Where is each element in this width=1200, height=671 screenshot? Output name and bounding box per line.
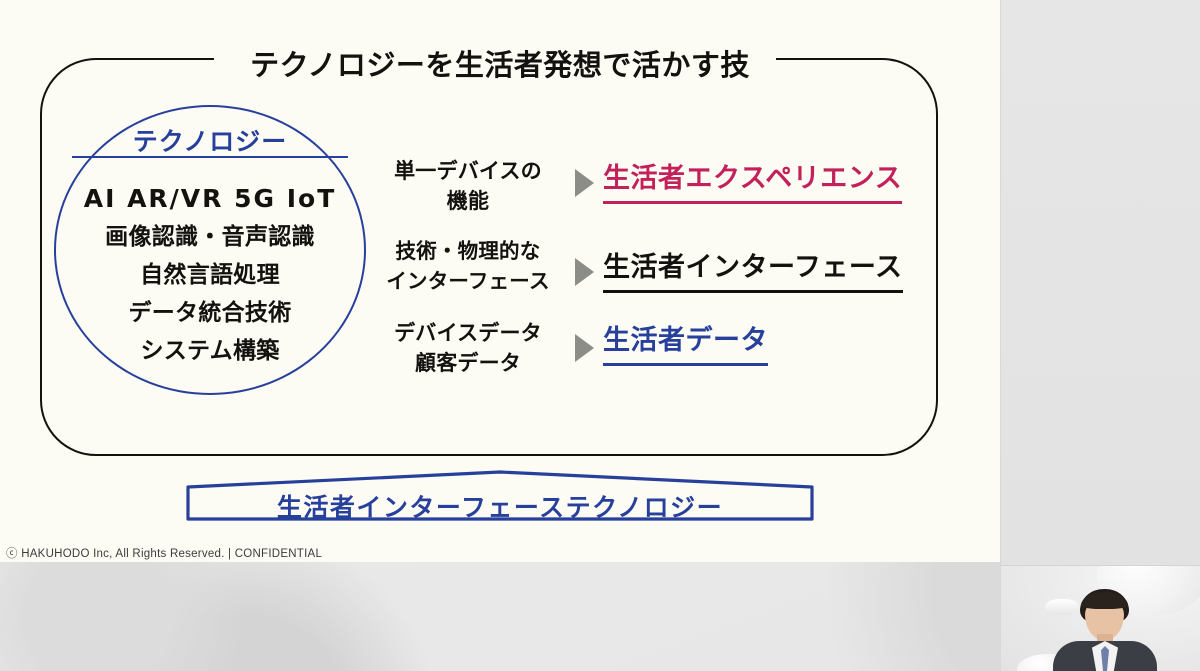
technology-heading-underline [72, 156, 348, 158]
technology-item-list: AI AR/VR 5G IoT 画像認識・音声認識 自然言語処理 データ統合技術… [54, 180, 366, 370]
summary-banner: 生活者インターフェーステクノロジー [186, 470, 814, 521]
mapping-source-line: 機能 [372, 186, 564, 216]
technology-item: 自然言語処理 [54, 256, 366, 294]
technology-item: システム構築 [54, 332, 366, 370]
mapping-source: デバイスデータ 顧客データ [372, 318, 564, 378]
side-rail-empty-area [1001, 0, 1200, 565]
summary-banner-label: 生活者インターフェーステクノロジー [186, 488, 814, 524]
mapping-source-line: 顧客データ [372, 348, 564, 378]
side-rail [1000, 0, 1200, 671]
screen-root: テクノロジーを生活者発想で活かす技 テクノロジー AI AR/VR 5G IoT… [0, 0, 1200, 671]
technology-item: データ統合技術 [54, 294, 366, 332]
technology-item: 画像認識・音声認識 [54, 218, 366, 256]
speaker-figure [1051, 589, 1159, 671]
mapping-target: 生活者エクスペリエンス [603, 156, 902, 204]
slide-title: テクノロジーを生活者発想で活かす技 [0, 42, 1000, 84]
technology-heading: テクノロジー [54, 122, 366, 158]
triangle-right-icon [575, 258, 594, 286]
triangle-right-icon [575, 169, 594, 197]
technology-item: AI AR/VR 5G IoT [54, 180, 366, 218]
triangle-right-icon [575, 334, 594, 362]
mapping-source: 技術・物理的な インターフェース [368, 236, 568, 296]
mapping-target: 生活者データ [603, 318, 768, 366]
mapping-source-line: 単一デバイスの [372, 156, 564, 186]
slide-footer: ⓒ HAKUHODO Inc, All Rights Reserved. | C… [6, 545, 322, 561]
mapping-source-line: デバイスデータ [372, 318, 564, 348]
speaker-video-tile[interactable] [1001, 565, 1200, 671]
mapping-source-line: インターフェース [368, 266, 568, 296]
presentation-slide: テクノロジーを生活者発想で活かす技 テクノロジー AI AR/VR 5G IoT… [0, 0, 1000, 562]
mapping-source-line: 技術・物理的な [368, 236, 568, 266]
mapping-source: 単一デバイスの 機能 [372, 156, 564, 216]
mapping-target: 生活者インターフェース [603, 245, 903, 293]
